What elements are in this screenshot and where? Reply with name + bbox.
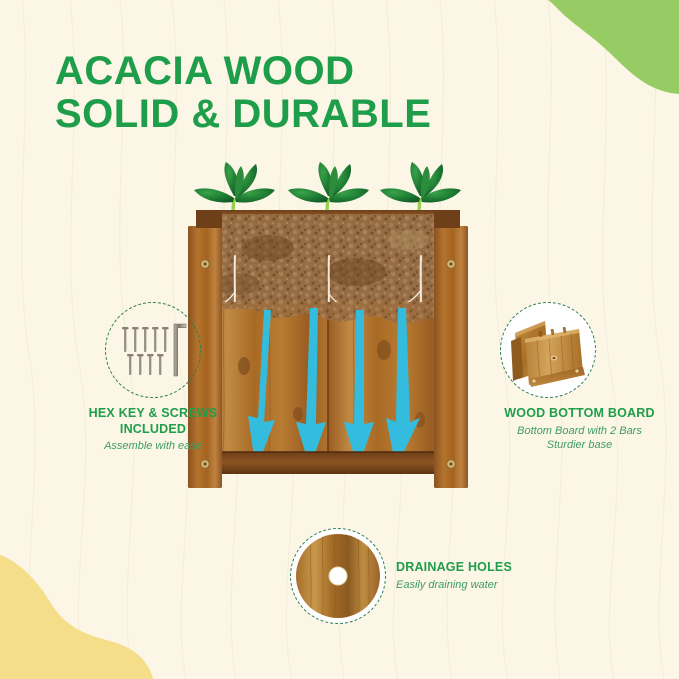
- hex-key-and-screws-badge: [105, 302, 201, 398]
- feature-board-subtitle: Bottom Board with 2 Bars Sturdier base: [480, 424, 679, 453]
- drainage-hole-badge: [290, 528, 386, 624]
- page-title: ACACIA WOOD SOLID & DURABLE: [55, 50, 431, 136]
- feature-board-text: WOOD BOTTOM BOARD Bottom Board with 2 Ba…: [480, 406, 679, 452]
- wood-bottom-board-badge: [500, 302, 596, 398]
- product-infographic: ACACIA WOOD SOLID & DURABLE: [0, 0, 679, 679]
- drainage-hole-disc-icon: [291, 529, 385, 623]
- feature-drainage-subtitle: Easily draining water: [396, 578, 512, 592]
- hex-key-and-screws-icon: [111, 308, 195, 392]
- feature-drainage-title: DRAINAGE HOLES: [396, 560, 512, 576]
- feature-screws-text: HEX KEY & SCREWS INCLUDED Assemble with …: [64, 406, 242, 454]
- feature-board-title: WOOD BOTTOM BOARD: [480, 406, 679, 422]
- decorative-blob-yellow-bottom-left: [0, 553, 194, 679]
- hex-key-shape: [174, 324, 186, 376]
- page-title-line-1: ACACIA WOOD: [55, 49, 355, 93]
- feature-drainage-holes: DRAINAGE HOLES Easily draining water: [290, 528, 530, 624]
- decorative-blob-green-top-right: [513, 0, 679, 94]
- planter-bottom-rail: [205, 452, 451, 474]
- feature-screws-title: HEX KEY & SCREWS INCLUDED: [64, 406, 242, 437]
- feature-wood-bottom-board: WOOD BOTTOM BOARD Bottom Board with 2 Ba…: [494, 302, 679, 452]
- feature-drainage-text: DRAINAGE HOLES Easily draining water: [396, 560, 512, 592]
- wood-bottom-board-icon: [501, 303, 595, 397]
- feature-screws-subtitle: Assemble with ease: [64, 439, 242, 453]
- feature-hex-key-and-screws: HEX KEY & SCREWS INCLUDED Assemble with …: [64, 302, 242, 454]
- page-title-line-2: SOLID & DURABLE: [55, 93, 431, 136]
